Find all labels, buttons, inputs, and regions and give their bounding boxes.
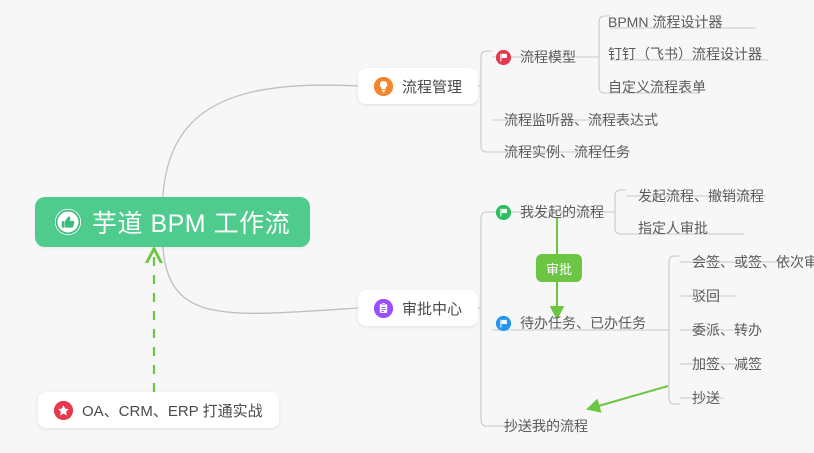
- branch-label-approval-center: 审批中心: [402, 298, 462, 319]
- star-icon: [54, 401, 73, 420]
- flag-icon-blue: [496, 316, 511, 331]
- leaf-countersign[interactable]: 会签、或签、依次审批: [680, 249, 814, 275]
- node-label-todo-done-tasks: 待办任务、已办任务: [520, 313, 646, 333]
- approval-badge-label: 审批: [546, 259, 572, 278]
- leaf-bpmn-designer[interactable]: BPMN 流程设计器: [596, 9, 726, 35]
- leaf-label-add-remove-sign: 加签、减签: [692, 354, 762, 374]
- branch-node-approval-center[interactable]: 审批中心: [358, 290, 478, 326]
- leaf-assignee-approval[interactable]: 指定人审批: [626, 215, 712, 241]
- thumbs-up-icon: [55, 209, 81, 235]
- node-todo-done-tasks[interactable]: 待办任务、已办任务: [492, 310, 650, 336]
- leaf-label-listener-expression: 流程监听器、流程表达式: [504, 110, 658, 130]
- leaf-label-carbon-copy: 抄送: [692, 388, 720, 408]
- leaf-add-remove-sign[interactable]: 加签、减签: [680, 351, 766, 377]
- leaf-reject[interactable]: 驳回: [680, 283, 724, 309]
- clipboard-icon: [374, 299, 393, 318]
- leaf-custom-process-form[interactable]: 自定义流程表单: [596, 74, 710, 100]
- integration-node-label: OA、CRM、ERP 打通实战: [82, 400, 263, 421]
- leaf-listener-expression[interactable]: 流程监听器、流程表达式: [492, 107, 662, 133]
- node-my-started-process[interactable]: 我发起的流程: [492, 199, 608, 225]
- flag-icon-green: [496, 205, 511, 220]
- node-process-model[interactable]: 流程模型: [492, 44, 580, 70]
- leaf-label-custom-process-form: 自定义流程表单: [608, 77, 706, 97]
- leaf-label-start-cancel-process: 发起流程、撤销流程: [638, 186, 764, 206]
- leaf-carbon-copy[interactable]: 抄送: [680, 385, 724, 411]
- mindmap-canvas: 芋道 BPM 工作流 流程管理 流程模型 BPMN 流程设计器 钉钉（飞书）流程…: [0, 0, 814, 453]
- leaf-label-instance-task: 流程实例、流程任务: [504, 142, 630, 162]
- node-label-my-started-process: 我发起的流程: [520, 202, 604, 222]
- leaf-label-reject: 驳回: [692, 286, 720, 306]
- flag-icon-red: [496, 50, 511, 65]
- node-label-process-model: 流程模型: [520, 47, 576, 67]
- lightbulb-icon: [374, 77, 393, 96]
- branch-node-process-management[interactable]: 流程管理: [358, 68, 478, 104]
- leaf-delegate-transfer[interactable]: 委派、转办: [680, 317, 766, 343]
- leaf-label-delegate-transfer: 委派、转办: [692, 320, 762, 340]
- integration-node[interactable]: OA、CRM、ERP 打通实战: [38, 392, 279, 428]
- root-node[interactable]: 芋道 BPM 工作流: [35, 197, 310, 247]
- leaf-label-countersign: 会签、或签、依次审批: [692, 252, 814, 272]
- leaf-cc-to-me-process[interactable]: 抄送我的流程: [492, 413, 592, 439]
- leaf-start-cancel-process[interactable]: 发起流程、撤销流程: [626, 183, 768, 209]
- leaf-dingtalk-feishu-designer[interactable]: 钉钉（飞书）流程设计器: [596, 41, 766, 67]
- leaf-label-cc-to-me-process: 抄送我的流程: [504, 416, 588, 436]
- leaf-label-dingtalk-feishu-designer: 钉钉（飞书）流程设计器: [608, 44, 762, 64]
- leaf-label-bpmn-designer: BPMN 流程设计器: [608, 12, 722, 32]
- leaf-label-assignee-approval: 指定人审批: [638, 218, 708, 238]
- root-label: 芋道 BPM 工作流: [92, 204, 290, 240]
- approval-badge: 审批: [536, 254, 582, 282]
- branch-label-process-management: 流程管理: [402, 76, 462, 97]
- carbon-copy-arrow: [588, 386, 668, 409]
- leaf-instance-task[interactable]: 流程实例、流程任务: [492, 139, 634, 165]
